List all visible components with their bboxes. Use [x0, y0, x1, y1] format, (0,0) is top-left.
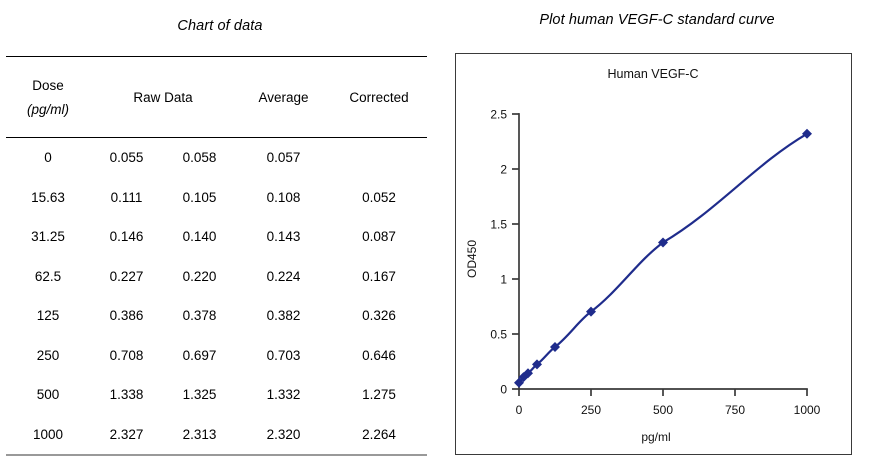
x-axis-tick-label: 250	[581, 403, 601, 417]
cell-raw-2: 0.105	[163, 178, 236, 218]
chart-panel: Plot human VEGF-C standard curve Human V…	[440, 0, 874, 474]
cell-corrected: 2.264	[331, 415, 427, 456]
table-row: 15.630.1110.1050.1080.052	[6, 178, 427, 218]
column-header-dose: Dose (pg/ml)	[6, 57, 90, 138]
standard-curve-chart: Human VEGF-C OD450 pg/ml 00.511.522.5 02…	[456, 54, 850, 453]
table-row: 00.0550.0580.057	[6, 138, 427, 178]
column-header-corrected: Corrected	[331, 57, 427, 138]
cell-dose: 250	[6, 336, 90, 376]
page-root: Chart of data Dose (pg/ml) Raw Data Aver…	[0, 0, 874, 474]
x-axis-tick-label: 500	[653, 403, 673, 417]
cell-corrected: 0.646	[331, 336, 427, 376]
cell-average: 0.224	[236, 257, 331, 297]
cell-raw-1: 0.146	[90, 217, 163, 257]
cell-raw-1: 2.327	[90, 415, 163, 456]
cell-raw-1: 0.111	[90, 178, 163, 218]
cell-raw-1: 0.055	[90, 138, 163, 178]
x-axis-tick-label: 750	[725, 403, 745, 417]
cell-raw-2: 2.313	[163, 415, 236, 456]
cell-dose: 31.25	[6, 217, 90, 257]
cell-raw-2: 0.378	[163, 296, 236, 336]
cell-average: 1.332	[236, 375, 331, 415]
cell-average: 2.320	[236, 415, 331, 456]
table-row: 5001.3381.3251.3321.275	[6, 375, 427, 415]
cell-raw-1: 0.708	[90, 336, 163, 376]
column-header-dose-unit: (pg/ml)	[6, 102, 90, 117]
table-row: 31.250.1460.1400.1430.087	[6, 217, 427, 257]
series-marker-diamond	[802, 129, 812, 139]
cell-average: 0.108	[236, 178, 331, 218]
x-axis-tick-label: 1000	[794, 403, 821, 417]
cell-average: 0.143	[236, 217, 331, 257]
cell-raw-1: 0.227	[90, 257, 163, 297]
chart-panel-title: Plot human VEGF-C standard curve	[440, 12, 874, 28]
y-axis-tick-label: 1	[500, 273, 507, 287]
table-header-row: Dose (pg/ml) Raw Data Average Corrected	[6, 57, 427, 138]
cell-average: 0.382	[236, 296, 331, 336]
cell-raw-2: 1.325	[163, 375, 236, 415]
x-axis-title: pg/ml	[641, 430, 670, 444]
cell-dose: 62.5	[6, 257, 90, 297]
chart-inner-title: Human VEGF-C	[608, 67, 699, 81]
cell-raw-2: 0.697	[163, 336, 236, 376]
x-axis-tick-label: 0	[516, 403, 523, 417]
data-series	[514, 129, 812, 388]
y-axis: 00.511.522.5	[490, 108, 519, 397]
cell-raw-2: 0.140	[163, 217, 236, 257]
chart-frame: Human VEGF-C OD450 pg/ml 00.511.522.5 02…	[455, 53, 852, 455]
y-axis-title: OD450	[465, 240, 479, 278]
x-axis: 02505007501000	[516, 389, 821, 417]
y-axis-tick-label: 2	[500, 163, 507, 177]
y-axis-tick-label: 1.5	[490, 218, 507, 232]
cell-dose: 500	[6, 375, 90, 415]
cell-corrected: 0.326	[331, 296, 427, 336]
series-line	[519, 134, 807, 383]
cell-dose: 1000	[6, 415, 90, 456]
y-axis-tick-label: 0	[500, 383, 507, 397]
table-panel-title: Chart of data	[0, 18, 440, 34]
column-header-dose-label: Dose	[6, 78, 90, 93]
cell-raw-1: 0.386	[90, 296, 163, 336]
cell-corrected: 0.052	[331, 178, 427, 218]
cell-dose: 0	[6, 138, 90, 178]
y-axis-tick-label: 2.5	[490, 108, 507, 122]
cell-average: 0.703	[236, 336, 331, 376]
column-header-raw-data: Raw Data	[90, 57, 236, 138]
data-table-head: Dose (pg/ml) Raw Data Average Corrected	[6, 57, 427, 138]
data-table-body: 00.0550.0580.05715.630.1110.1050.1080.05…	[6, 138, 427, 456]
cell-raw-2: 0.220	[163, 257, 236, 297]
table-row: 10002.3272.3132.3202.264	[6, 415, 427, 456]
cell-corrected	[331, 138, 427, 178]
y-axis-tick-label: 0.5	[490, 328, 507, 342]
cell-dose: 125	[6, 296, 90, 336]
cell-dose: 15.63	[6, 178, 90, 218]
cell-raw-1: 1.338	[90, 375, 163, 415]
table-row: 1250.3860.3780.3820.326	[6, 296, 427, 336]
cell-corrected: 1.275	[331, 375, 427, 415]
cell-average: 0.057	[236, 138, 331, 178]
table-row: 2500.7080.6970.7030.646	[6, 336, 427, 376]
table-row: 62.50.2270.2200.2240.167	[6, 257, 427, 297]
column-header-average: Average	[236, 57, 331, 138]
table-panel: Chart of data Dose (pg/ml) Raw Data Aver…	[0, 0, 440, 474]
cell-corrected: 0.087	[331, 217, 427, 257]
cell-raw-2: 0.058	[163, 138, 236, 178]
cell-corrected: 0.167	[331, 257, 427, 297]
data-table: Dose (pg/ml) Raw Data Average Corrected …	[6, 56, 427, 456]
